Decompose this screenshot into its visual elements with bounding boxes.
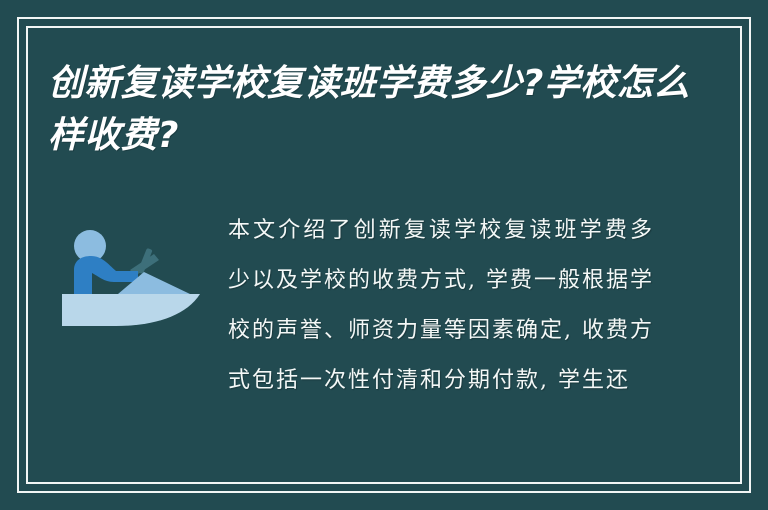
rowing-boat-illustration-svg [58, 226, 208, 330]
boat-hull [62, 294, 200, 326]
article-cover-card: 创新复读学校复读班学费多少?学校怎么样收费? 本文介绍了创新复读学校复读班学费多… [0, 0, 768, 510]
page-title: 创新复读学校复读班学费多少?学校怎么样收费? [48, 58, 708, 162]
rowing-boat-icon [58, 226, 208, 330]
article-summary-text: 本文介绍了创新复读学校复读班学费多少以及学校的收费方式, 学费一般根据学校的声誉… [228, 206, 654, 406]
